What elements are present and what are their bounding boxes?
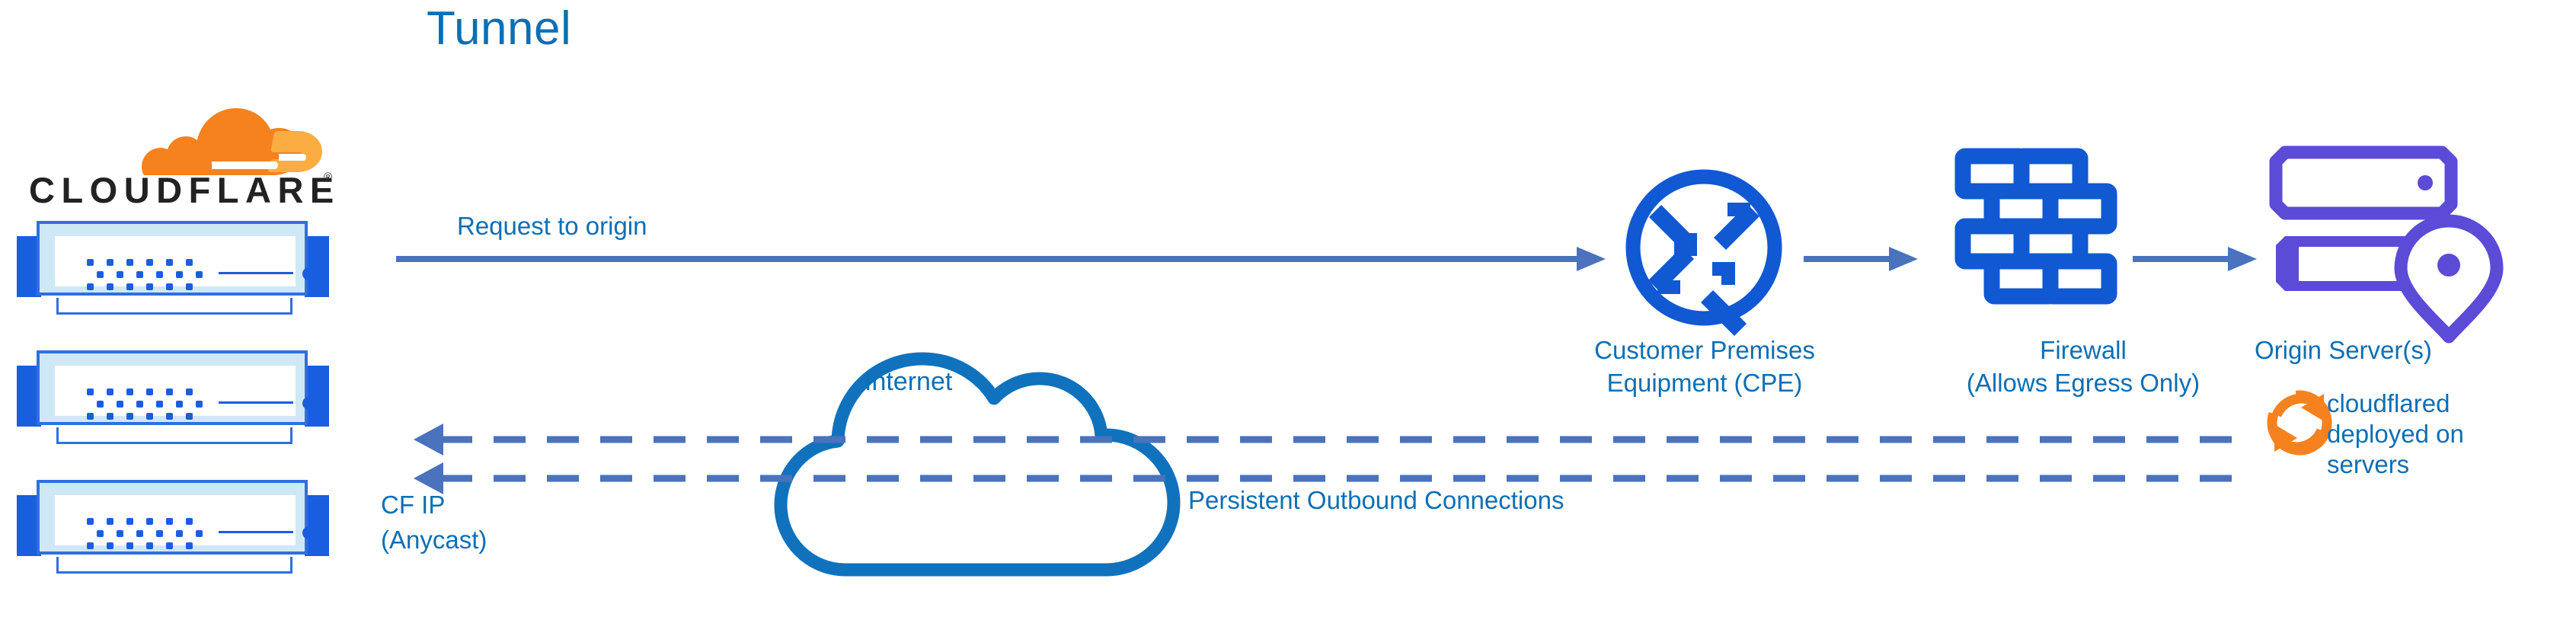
firewall-label: Firewall (Allows Egress Only) [1904,334,2262,399]
cf-ip-anycast-label: CF IP (Anycast) [381,488,487,558]
router-converging-arrows-icon [1633,177,1775,336]
internet-cloud-icon [781,359,1174,570]
internet-label: Internet [865,366,952,398]
server-rack-location-pin-icon [2276,152,2497,337]
firewall-label-line2: (Allows Egress Only) [1904,366,2262,399]
cf-ip-label-line1: CF IP [381,488,487,523]
persistent-outbound-line-1 [414,424,2243,456]
brick-wall-icon [1963,156,2109,296]
cf-ip-label-line2: (Anycast) [381,523,487,558]
cloudflared-label-line2: deployed on [2327,419,2464,449]
cpe-label-line1: Customer Premises [1545,334,1865,366]
firewall-to-origin-arrow [2133,247,2257,271]
cpe-to-firewall-arrow [1804,247,1918,271]
cloudflared-label: cloudflared deployed on servers [2327,388,2464,480]
firewall-label-line1: Firewall [1904,334,2262,366]
persistent-outbound-connections-label: Persistent Outbound Connections [1188,484,1564,516]
cpe-label-line2: Equipment (CPE) [1545,366,1865,399]
cloudflared-label-line3: servers [2327,449,2464,480]
diagram-canvas: Tunnel CLOUDFLARE ® [0,0,2576,617]
request-to-origin-arrow [396,247,1606,271]
cloudflared-label-line1: cloudflared [2327,388,2464,419]
cpe-label: Customer Premises Equipment (CPE) [1545,334,1865,399]
origin-server-label: Origin Server(s) [2255,334,2576,366]
request-to-origin-label: Request to origin [457,209,647,242]
